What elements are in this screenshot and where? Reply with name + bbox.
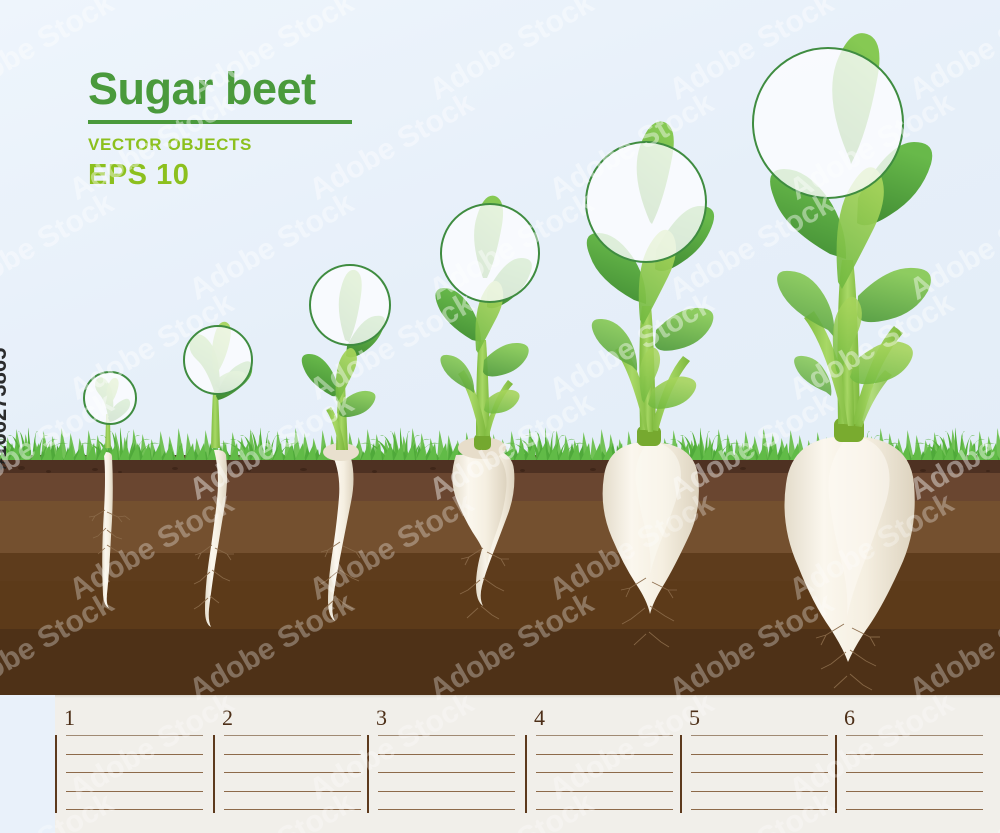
legend-line (224, 754, 361, 755)
title-underline (88, 120, 352, 124)
legend-line (846, 772, 983, 773)
legend-accent-bar (835, 735, 837, 813)
legend-text-lines (536, 735, 673, 828)
legend-body (55, 735, 203, 815)
legend-line (536, 754, 673, 755)
legend-column-3: 3 (367, 705, 515, 815)
lens-stage-2[interactable] (183, 325, 253, 395)
legend-line (536, 735, 673, 736)
legend-column-6: 6 (835, 705, 983, 815)
legend-accent-bar (680, 735, 682, 813)
legend-column-4: 4 (525, 705, 673, 815)
legend-line (536, 809, 673, 810)
legend-line (691, 735, 828, 736)
page-title: Sugar beet (88, 64, 352, 114)
legend-accent-bar (213, 735, 215, 813)
legend-line (378, 754, 515, 755)
stock-id-watermark: #166273865 (0, 348, 12, 470)
legend-text-lines (224, 735, 361, 828)
legend-line (846, 791, 983, 792)
legend-line (378, 772, 515, 773)
lens-stage-6[interactable] (752, 47, 904, 199)
legend-text-lines (378, 735, 515, 828)
legend-body (835, 735, 983, 815)
legend-body (525, 735, 673, 815)
legend-body (367, 735, 515, 815)
legend-number: 1 (55, 705, 203, 731)
legend-text-lines (846, 735, 983, 828)
format-label: EPS 10 (88, 159, 352, 192)
legend-number: 3 (367, 705, 515, 731)
legend-line (536, 791, 673, 792)
lens-stage-4[interactable] (440, 203, 540, 303)
legend-line (691, 772, 828, 773)
legend-number: 5 (680, 705, 828, 731)
legend-line (224, 735, 361, 736)
legend-line (536, 772, 673, 773)
legend-line (378, 791, 515, 792)
legend-column-2: 2 (213, 705, 361, 815)
legend-line (224, 791, 361, 792)
legend-line (378, 809, 515, 810)
legend-number: 4 (525, 705, 673, 731)
legend-column-5: 5 (680, 705, 828, 815)
legend-number: 2 (213, 705, 361, 731)
legend-line (846, 735, 983, 736)
legend-line (691, 754, 828, 755)
lens-stage-3[interactable] (309, 264, 391, 346)
legend-column-1: 1 (55, 705, 203, 815)
legend-line (846, 809, 983, 810)
legend-line (224, 772, 361, 773)
panel-edge-shadow (55, 695, 1000, 698)
legend-accent-bar (55, 735, 57, 813)
lens-stage-1[interactable] (83, 371, 137, 425)
legend-line (66, 772, 203, 773)
legend-text-lines (66, 735, 203, 828)
legend-line (66, 735, 203, 736)
legend-line (691, 791, 828, 792)
legend-accent-bar (525, 735, 527, 813)
legend-line (66, 791, 203, 792)
title-block: Sugar beet VECTOR OBJECTS EPS 10 (88, 64, 352, 192)
legend-line (224, 809, 361, 810)
legend-accent-bar (367, 735, 369, 813)
legend-line (66, 809, 203, 810)
legend-line (66, 754, 203, 755)
illustration-canvas: Sugar beet VECTOR OBJECTS EPS 10 123456 … (0, 0, 1000, 833)
lens-stage-5[interactable] (585, 141, 707, 263)
legend-text-lines (691, 735, 828, 828)
legend-panel: 123456 (55, 695, 1000, 833)
legend-line (691, 809, 828, 810)
legend-line (846, 754, 983, 755)
legend-number: 6 (835, 705, 983, 731)
subtitle: VECTOR OBJECTS (88, 135, 352, 155)
legend-body (213, 735, 361, 815)
legend-line (378, 735, 515, 736)
legend-body (680, 735, 828, 815)
